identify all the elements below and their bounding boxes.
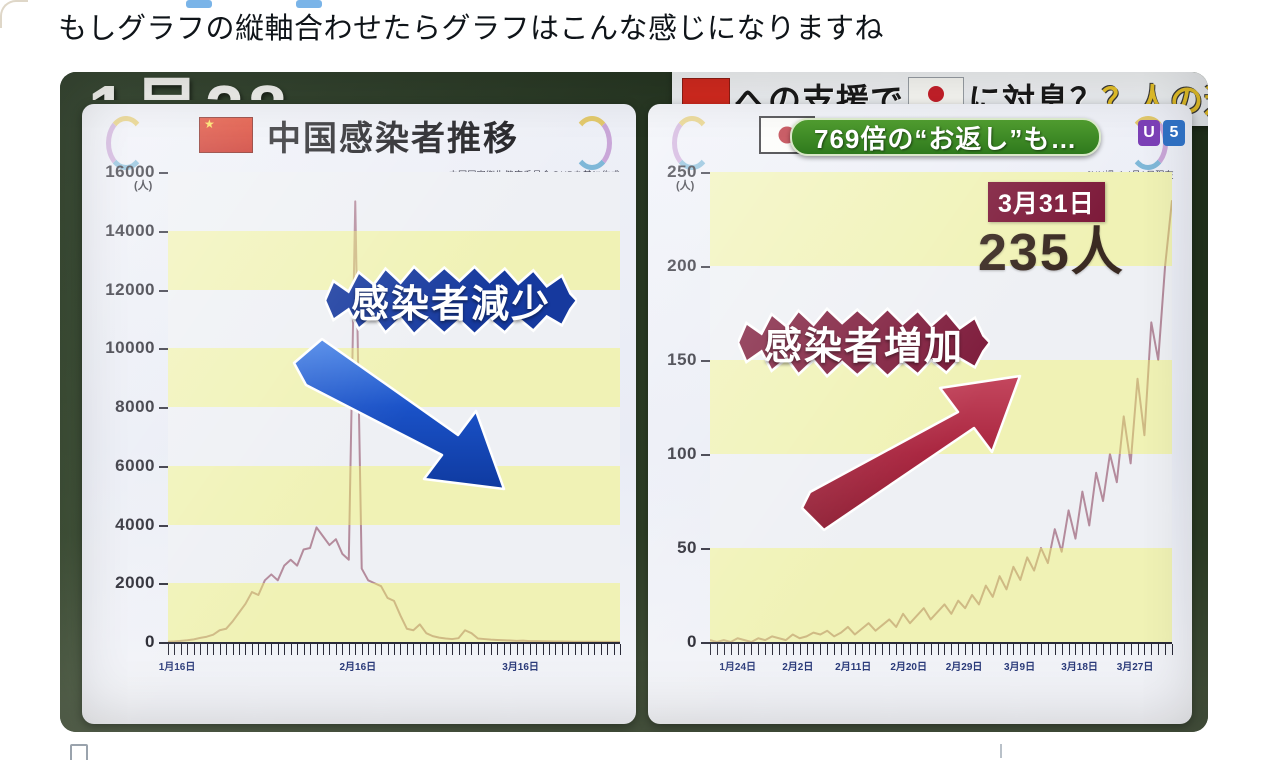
top-chip-b <box>296 0 322 8</box>
china-flag-icon <box>199 117 253 153</box>
y-axis-tick <box>701 360 710 362</box>
x-axis-tick <box>465 644 466 655</box>
tweet-text: もしグラフの縦軸合わせたらグラフはこんな感じになりますね <box>58 10 1208 49</box>
x-axis-tick <box>433 644 434 655</box>
x-axis-tick <box>555 644 556 655</box>
x-axis-tick <box>297 644 298 655</box>
x-axis-tick <box>194 644 195 655</box>
green-banner: 769倍の“お返し”も… <box>790 118 1101 156</box>
x-axis-tick <box>1165 644 1166 655</box>
x-axis-tick <box>896 644 897 655</box>
japan-chart-panel: 日本感染者推移 JNN調べ 4月1日現在 050100150200250(人) … <box>648 104 1192 724</box>
x-axis-tick <box>1069 644 1070 655</box>
x-axis-tick <box>323 644 324 655</box>
japan-date-count: 235人 <box>978 210 1125 285</box>
y-axis-tick <box>159 407 168 409</box>
y-axis-tick <box>159 231 168 233</box>
x-axis-label: 1月16日 <box>159 658 196 673</box>
china-plot-wrapper: 中国国家衛生健康委員会のHPを基に作成 02000400060008000100… <box>82 162 636 722</box>
x-axis-tick <box>924 644 925 655</box>
x-axis-tick <box>342 644 343 655</box>
x-axis-tick <box>523 644 524 655</box>
y-axis-tick <box>701 266 710 268</box>
y-axis-label: 8000 <box>82 397 155 417</box>
x-axis-tick <box>1048 644 1049 655</box>
x-axis-tick <box>758 644 759 655</box>
x-axis-label: 2月11日 <box>835 658 871 673</box>
x-axis-tick <box>889 644 890 655</box>
x-axis-tick <box>594 644 595 655</box>
japan-callout-label: 感染者増加 <box>764 315 964 370</box>
chart-band <box>710 548 1172 642</box>
x-axis-tick <box>607 644 608 655</box>
x-axis-label: 2月2日 <box>782 658 813 673</box>
x-axis-tick <box>317 644 318 655</box>
x-axis-tick <box>731 644 732 655</box>
x-axis-tick <box>1110 644 1111 655</box>
x-axis-tick <box>575 644 576 655</box>
x-axis-tick <box>738 644 739 655</box>
x-axis-tick <box>278 644 279 655</box>
x-axis-tick <box>751 644 752 655</box>
x-axis-tick <box>233 644 234 655</box>
x-axis-tick <box>910 644 911 655</box>
x-axis-tick <box>207 644 208 655</box>
x-axis-tick <box>1013 644 1014 655</box>
x-axis-tick <box>944 644 945 655</box>
x-axis-tick <box>1027 644 1028 655</box>
y-axis-tick <box>701 454 710 456</box>
x-axis-tick <box>568 644 569 655</box>
y-axis-tick <box>159 642 168 644</box>
x-axis-tick <box>497 644 498 655</box>
x-axis-tick <box>329 644 330 655</box>
x-axis-tick <box>1062 644 1063 655</box>
x-axis-tick <box>614 644 615 655</box>
y-axis-tick <box>159 466 168 468</box>
x-axis-tick <box>562 644 563 655</box>
x-axis-label: 3月9日 <box>1004 658 1035 673</box>
y-axis-tick <box>159 583 168 585</box>
japan-callout-badge: 感染者増加 <box>738 307 990 378</box>
japan-plot-wrapper: JNN調べ 4月1日現在 050100150200250(人) 3月31日 23… <box>648 162 1192 722</box>
y-axis-unit: (人) <box>134 177 152 193</box>
x-axis-tick <box>710 644 711 655</box>
china-callout-badge: 感染者減少 <box>325 265 577 336</box>
x-axis-tick <box>355 644 356 655</box>
x-axis-tick <box>1117 644 1118 655</box>
page-root: もしグラフの縦軸合わせたらグラフはこんな感じになりますね 1月28 への支援で … <box>0 0 1270 760</box>
x-axis-tick <box>381 644 382 655</box>
x-axis-tick <box>549 644 550 655</box>
x-axis-tick <box>931 644 932 655</box>
y-axis-label: 150 <box>648 350 697 370</box>
x-axis-label: 2月20日 <box>890 658 927 673</box>
x-axis-tick <box>368 644 369 655</box>
x-axis-label: 3月16日 <box>502 658 539 673</box>
x-axis-tick <box>271 644 272 655</box>
x-axis-label: 3月27日 <box>1117 658 1154 673</box>
y-axis-label: 4000 <box>82 515 155 535</box>
x-axis-tick <box>724 644 725 655</box>
x-axis-tick <box>1034 644 1035 655</box>
x-axis-tick <box>446 644 447 655</box>
x-axis-tick <box>1055 644 1056 655</box>
x-axis-tick <box>786 644 787 655</box>
x-axis-tick <box>765 644 766 655</box>
china-panel-title: 中国感染者推移 <box>267 111 519 160</box>
x-axis-tick <box>1041 644 1042 655</box>
x-axis-tick <box>1131 644 1132 655</box>
x-axis-tick <box>938 644 939 655</box>
y-axis-tick <box>159 348 168 350</box>
x-axis-tick <box>772 644 773 655</box>
china-chart-panel: 中国感染者推移 中国国家衛生健康委員会のHPを基に作成 020004000600… <box>82 104 636 724</box>
x-axis-tick <box>310 644 311 655</box>
green-banner-label: 769倍の“お返し”も… <box>814 119 1077 156</box>
x-axis-tick <box>1144 644 1145 655</box>
x-axis-tick <box>252 644 253 655</box>
y-axis-tick <box>701 172 710 174</box>
x-axis-tick <box>1075 644 1076 655</box>
x-axis-tick <box>349 644 350 655</box>
x-axis-tick <box>800 644 801 655</box>
top-chip-a <box>186 0 212 8</box>
y-axis-unit: (人) <box>676 177 694 193</box>
x-axis-tick <box>882 644 883 655</box>
x-axis-label: 2月29日 <box>946 658 983 673</box>
x-axis-tick <box>200 644 201 655</box>
x-axis-tick <box>478 644 479 655</box>
x-axis-tick <box>958 644 959 655</box>
x-axis-tick <box>239 644 240 655</box>
y-axis-label: 2000 <box>82 573 155 593</box>
x-axis-tick <box>793 644 794 655</box>
x-axis-tick <box>1151 644 1152 655</box>
x-axis-tick <box>807 644 808 655</box>
x-axis-tick <box>388 644 389 655</box>
thread-corner-decoration <box>0 0 28 28</box>
y-axis-label: 10000 <box>82 338 155 358</box>
x-axis-tick <box>993 644 994 655</box>
x-axis-tick <box>291 644 292 655</box>
y-axis-label: 12000 <box>82 280 155 300</box>
x-axis-tick <box>407 644 408 655</box>
y-axis-label: 0 <box>648 632 697 652</box>
y-axis-tick <box>159 290 168 292</box>
tv-cut-off-title: 1月28 <box>88 72 291 100</box>
x-axis-label: 2月16日 <box>339 658 376 673</box>
x-axis-tick <box>855 644 856 655</box>
y-axis-label: 14000 <box>82 221 155 241</box>
tweet-media-photo[interactable]: 1月28 への支援で に対息？ ？人の遅化 769倍の“お返し”も… U 5 中… <box>60 72 1208 732</box>
x-axis-tick <box>848 644 849 655</box>
x-axis-tick <box>187 644 188 655</box>
x-axis-tick <box>965 644 966 655</box>
x-axis-tick <box>536 644 537 655</box>
x-axis-tick <box>258 644 259 655</box>
x-axis-ruler <box>168 644 620 655</box>
x-axis-tick <box>471 644 472 655</box>
x-axis-tick <box>484 644 485 655</box>
china-callout-label: 感染者減少 <box>351 273 551 328</box>
x-axis-tick <box>1082 644 1083 655</box>
x-axis-tick <box>420 644 421 655</box>
x-axis-tick <box>181 644 182 655</box>
share-icon[interactable] <box>1000 744 1002 758</box>
y-axis-label: 50 <box>648 538 697 558</box>
x-axis-tick <box>744 644 745 655</box>
x-axis-tick <box>168 644 169 655</box>
x-axis-tick <box>504 644 505 655</box>
x-axis-tick <box>1158 644 1159 655</box>
chart-band <box>168 583 620 642</box>
x-axis-tick <box>601 644 602 655</box>
y-axis-tick <box>159 525 168 527</box>
x-axis-tick <box>1000 644 1001 655</box>
x-axis-tick <box>426 644 427 655</box>
x-axis-tick <box>245 644 246 655</box>
x-axis-tick <box>413 644 414 655</box>
x-axis-ruler <box>710 644 1172 655</box>
x-axis-tick <box>1089 644 1090 655</box>
x-axis-tick <box>972 644 973 655</box>
x-axis-tick <box>336 644 337 655</box>
x-axis-tick <box>862 644 863 655</box>
x-axis-tick <box>841 644 842 655</box>
x-axis-tick <box>834 644 835 655</box>
x-axis-label: 1月24日 <box>719 658 756 673</box>
x-axis-tick <box>517 644 518 655</box>
x-axis-tick <box>875 644 876 655</box>
x-axis-tick <box>717 644 718 655</box>
x-axis-tick <box>459 644 460 655</box>
x-axis-tick <box>1172 644 1173 655</box>
x-axis-tick <box>400 644 401 655</box>
broadcaster-logo: U 5 <box>1138 120 1185 146</box>
x-axis-tick <box>979 644 980 655</box>
chart-band <box>168 525 620 584</box>
x-axis-tick <box>869 644 870 655</box>
x-axis-tick <box>779 644 780 655</box>
x-axis-tick <box>813 644 814 655</box>
x-axis-label: 3月18日 <box>1061 658 1098 673</box>
x-axis-tick <box>951 644 952 655</box>
x-axis-tick <box>543 644 544 655</box>
x-axis-tick <box>174 644 175 655</box>
y-axis-tick <box>701 548 710 550</box>
x-axis-tick <box>213 644 214 655</box>
x-axis-tick <box>304 644 305 655</box>
x-axis-tick <box>375 644 376 655</box>
x-axis-tick <box>581 644 582 655</box>
logo-u-icon: U <box>1138 120 1160 146</box>
x-axis-tick <box>491 644 492 655</box>
up-right-arrow-icon <box>798 372 1038 532</box>
chart-band <box>168 172 620 231</box>
x-axis-tick <box>1124 644 1125 655</box>
x-axis-tick <box>917 644 918 655</box>
logo-5-icon: 5 <box>1163 120 1185 146</box>
y-axis-label: 200 <box>648 256 697 276</box>
x-axis-tick <box>226 644 227 655</box>
y-axis-label: 100 <box>648 444 697 464</box>
x-axis-tick <box>820 644 821 655</box>
x-axis-tick <box>362 644 363 655</box>
x-axis-tick <box>620 644 621 655</box>
x-axis-tick <box>265 644 266 655</box>
x-axis-tick <box>1096 644 1097 655</box>
y-axis-label: 6000 <box>82 456 155 476</box>
x-axis-tick <box>588 644 589 655</box>
x-axis-tick <box>530 644 531 655</box>
x-axis-tick <box>452 644 453 655</box>
y-axis-tick <box>701 642 710 644</box>
reply-icon[interactable] <box>70 744 88 760</box>
x-axis-tick <box>510 644 511 655</box>
x-axis-tick <box>284 644 285 655</box>
x-axis-tick <box>903 644 904 655</box>
x-axis-tick <box>986 644 987 655</box>
x-axis-tick <box>1103 644 1104 655</box>
x-axis-tick <box>1138 644 1139 655</box>
x-axis-tick <box>394 644 395 655</box>
x-axis-tick <box>1007 644 1008 655</box>
y-axis-label: 0 <box>82 632 155 652</box>
x-axis-tick <box>1020 644 1021 655</box>
x-axis-tick <box>439 644 440 655</box>
china-panel-header: 中国感染者推移 <box>82 104 636 166</box>
x-axis-tick <box>220 644 221 655</box>
y-axis-tick <box>159 172 168 174</box>
x-axis-tick <box>827 644 828 655</box>
down-right-arrow-icon <box>290 337 520 512</box>
